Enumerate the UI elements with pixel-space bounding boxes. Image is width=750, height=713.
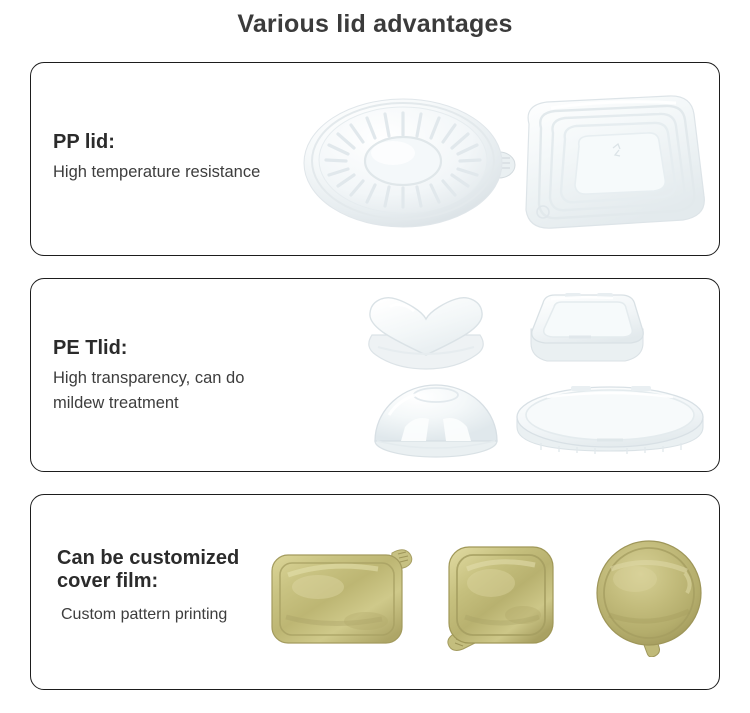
heart-pet-lid-image — [356, 289, 496, 379]
square-pet-lid-image — [521, 287, 656, 377]
pet-lid-heading: PE Tlid: — [53, 337, 244, 360]
pp-lid-text-block: PP lid: High temperature resistance — [53, 131, 260, 185]
rectangular-pp-lid-image — [491, 88, 721, 238]
round-pp-lid-image — [303, 93, 533, 233]
card-cover-film: Can be customized cover film: Custom pat… — [30, 494, 720, 690]
square-gold-foil-lid-image — [439, 539, 579, 654]
dome-pet-lid-image — [371, 379, 501, 461]
cover-film-description: Custom pattern printing — [57, 599, 239, 628]
round-gold-foil-lid-image — [589, 537, 719, 657]
cover-film-text-block: Can be customized cover film: Custom pat… — [57, 547, 239, 627]
pet-lid-description: High transparency, can do mildew treatme… — [53, 366, 244, 417]
card-pet-lid: PE Tlid: High transparency, can do milde… — [30, 278, 720, 472]
rectangular-gold-foil-lid-image — [266, 541, 431, 651]
pp-lid-description: High temperature resistance — [53, 160, 260, 186]
pet-lid-text-block: PE Tlid: High transparency, can do milde… — [53, 337, 244, 417]
pp-lid-heading: PP lid: — [53, 131, 260, 154]
oval-pet-lid-image — [511, 381, 711, 461]
card-pp-lid: PP lid: High temperature resistance — [30, 62, 720, 256]
cover-film-heading: Can be customized cover film: — [57, 547, 239, 593]
page-title: Various lid advantages — [0, 10, 750, 39]
